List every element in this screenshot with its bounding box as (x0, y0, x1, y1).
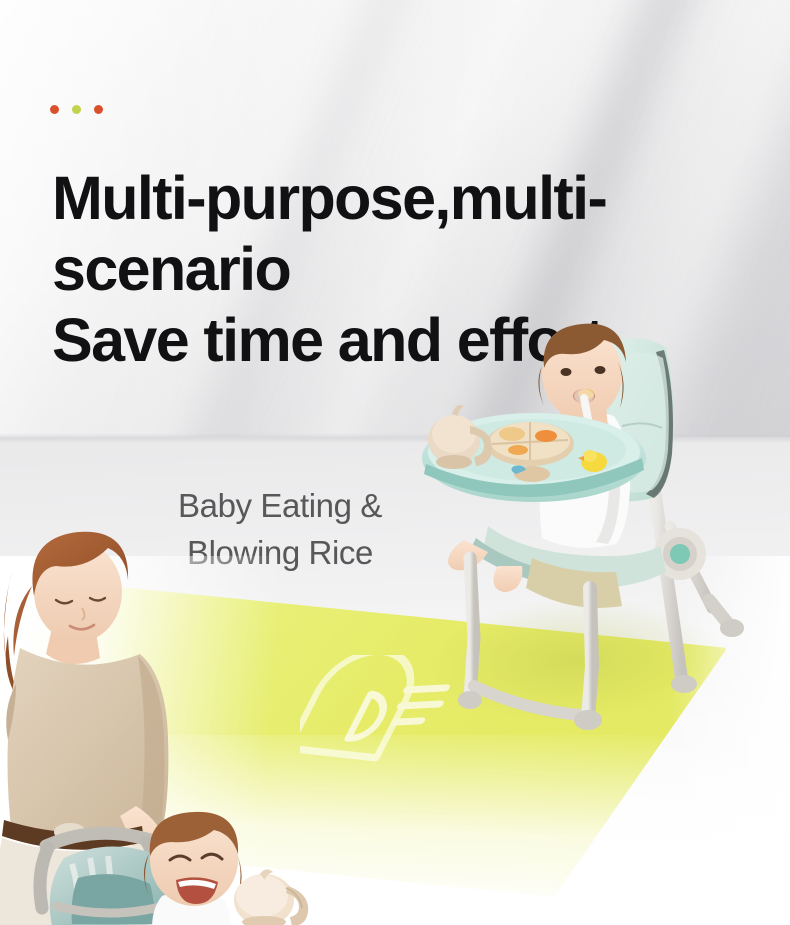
chair-rear-legs (655, 494, 730, 682)
dot-3 (94, 105, 103, 114)
mother-and-stroller-photo (0, 520, 306, 925)
headline-line-1: Multi-purpose,multi-scenario (52, 164, 606, 303)
dot-1 (50, 105, 59, 114)
teapot-on-tray (428, 405, 492, 469)
dot-2 (72, 105, 81, 114)
decorative-dot-row (50, 105, 103, 114)
teapot-bottom (228, 866, 314, 925)
food-plate (486, 422, 574, 466)
subheading-line-1: Baby Eating & (178, 487, 382, 524)
laughing-toddler (144, 812, 242, 925)
baby-high-chair (412, 326, 742, 726)
promo-banner: Multi-purpose,multi-scenario Save time a… (0, 0, 790, 925)
